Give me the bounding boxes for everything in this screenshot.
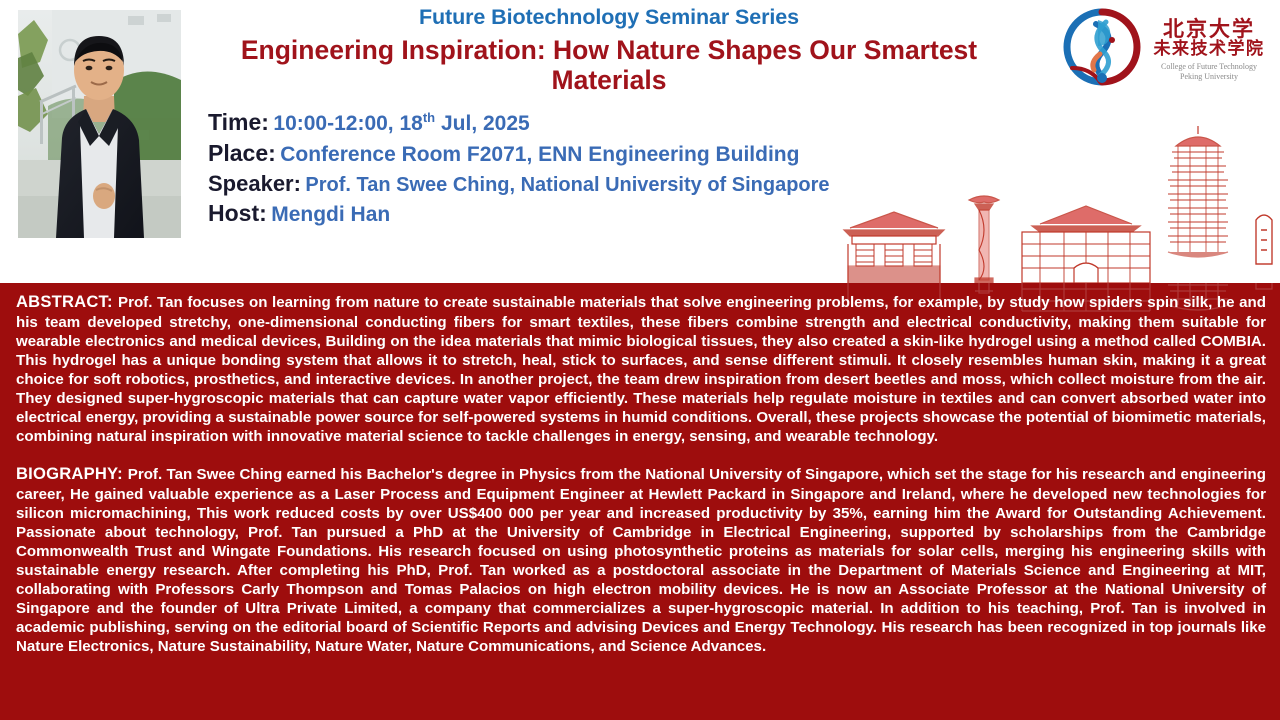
speaker-portrait-image xyxy=(18,10,181,238)
university-logo: 北京大学 未来技术学院 College of Future Technology… xyxy=(1060,2,1274,98)
logo-english-college: College of Future Technology xyxy=(1146,62,1272,72)
time-ordinal-suffix: th xyxy=(423,110,435,125)
series-title: Future Biotechnology Seminar Series xyxy=(196,6,1022,30)
place-label: Place: xyxy=(208,140,276,166)
detail-row-time: Time: 10:00-12:00, 18th Jul, 2025 xyxy=(208,108,1068,138)
time-label: Time: xyxy=(208,109,269,135)
host-label: Host: xyxy=(208,200,267,226)
speaker-label: Speaker: xyxy=(208,171,301,196)
detail-row-place: Place: Conference Room F2071, ENN Engine… xyxy=(208,139,1068,169)
content-band: ABSTRACT: Prof. Tan focuses on learning … xyxy=(0,283,1280,720)
event-details: Time: 10:00-12:00, 18th Jul, 2025 Place:… xyxy=(208,108,1068,230)
logo-english-name: College of Future Technology Peking Univ… xyxy=(1146,62,1272,82)
biography-paragraph: BIOGRAPHY: Prof. Tan Swee Ching earned h… xyxy=(16,464,1266,657)
place-value: Conference Room F2071, ENN Engineering B… xyxy=(280,143,799,166)
abstract-heading: ABSTRACT xyxy=(16,292,107,311)
detail-row-host: Host: Mengdi Han xyxy=(208,199,1068,229)
seminar-poster: Future Biotechnology Seminar Series Engi… xyxy=(0,0,1280,720)
detail-row-speaker: Speaker: Prof. Tan Swee Ching, National … xyxy=(208,170,1068,199)
title-block: Future Biotechnology Seminar Series Engi… xyxy=(196,0,1022,96)
time-value: 10:00-12:00, 18th Jul, 2025 xyxy=(273,112,529,135)
biography-separator: : xyxy=(117,464,128,483)
logo-english-university: Peking University xyxy=(1146,72,1272,82)
biography-body: Prof. Tan Swee Ching earned his Bachelor… xyxy=(16,466,1266,656)
speaker-value: Prof. Tan Swee Ching, National Universit… xyxy=(305,174,829,196)
logo-text: 北京大学 未来技术学院 College of Future Technology… xyxy=(1146,18,1272,82)
host-value: Mengdi Han xyxy=(271,203,390,226)
logo-chinese-university-name: 北京大学 xyxy=(1146,18,1272,40)
biography-heading: BIOGRAPHY xyxy=(16,464,117,483)
page-title: Engineering Inspiration: How Nature Shap… xyxy=(196,35,1022,96)
poster-header: Future Biotechnology Seminar Series Engi… xyxy=(0,0,1280,283)
logo-chinese-college-name: 未来技术学院 xyxy=(1146,40,1272,60)
content-text: ABSTRACT: Prof. Tan focuses on learning … xyxy=(0,283,1280,656)
abstract-separator: : xyxy=(107,292,118,311)
abstract-paragraph: ABSTRACT: Prof. Tan focuses on learning … xyxy=(16,292,1266,447)
speaker-photo xyxy=(18,10,181,238)
dna-helix-logo-icon xyxy=(1060,6,1144,94)
abstract-body: Prof. Tan focuses on learning from natur… xyxy=(16,294,1266,445)
